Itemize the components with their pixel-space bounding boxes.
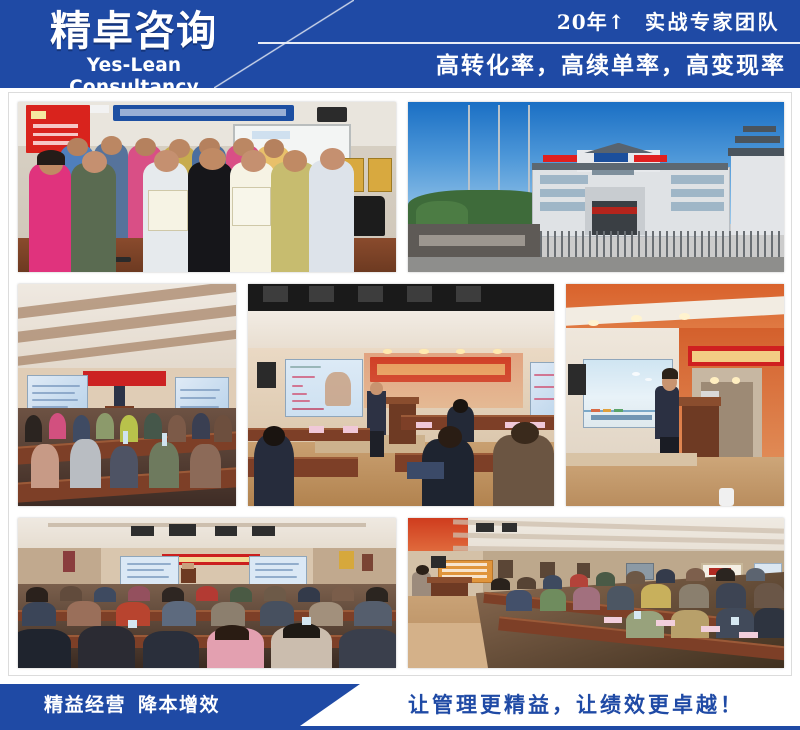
- header-horizontal-rule: [258, 42, 800, 44]
- photo-company-building-exterior[interactable]: [408, 102, 784, 272]
- page-footer: 精益经营降本增效 让管理更精益，让绩效更卓越！: [0, 684, 800, 730]
- page-header: 精卓咨询 Yes-Lean Consultancy 20年↑实战专家团队 高转化…: [0, 0, 800, 88]
- brand-logo-english: Yes-Lean Consultancy: [24, 55, 244, 88]
- header-tagline-top: 20年↑实战专家团队: [557, 2, 780, 42]
- photo-packed-hall-rear-view[interactable]: [18, 518, 396, 668]
- header-team-label: 实战专家团队: [645, 10, 780, 34]
- photo-speaker-podium-right[interactable]: [566, 284, 784, 506]
- photo-group-certificate-ceremony[interactable]: [18, 102, 396, 272]
- poster-root: 精卓咨询 Yes-Lean Consultancy 20年↑实战专家团队 高转化…: [0, 0, 800, 730]
- brand-logo: 精卓咨询 Yes-Lean Consultancy: [24, 8, 244, 88]
- photo-gallery: [8, 92, 792, 676]
- footer-slogan-part-b: 降本增效: [138, 694, 220, 716]
- photo-auditorium-audience-left[interactable]: [18, 284, 236, 506]
- footer-slogan-part-a: 精益经营: [44, 694, 126, 716]
- header-tagline-bottom: 高转化率，高续单率，高变现率: [436, 46, 786, 86]
- photo-grid: [18, 102, 782, 666]
- footer-left-slogan: 精益经营降本增效: [44, 684, 220, 726]
- header-years-value: 20年: [557, 10, 608, 34]
- header-diagonal-divider: [214, 0, 334, 88]
- photo-hall-side-view[interactable]: [408, 518, 784, 668]
- photo-speaker-red-banner[interactable]: [248, 284, 554, 506]
- up-arrow-icon: ↑: [608, 10, 627, 34]
- footer-accent-bar: [0, 726, 800, 730]
- footer-right-slogan: 让管理更精益，让绩效更卓越！: [408, 684, 744, 726]
- brand-logo-chinese: 精卓咨询: [24, 8, 244, 54]
